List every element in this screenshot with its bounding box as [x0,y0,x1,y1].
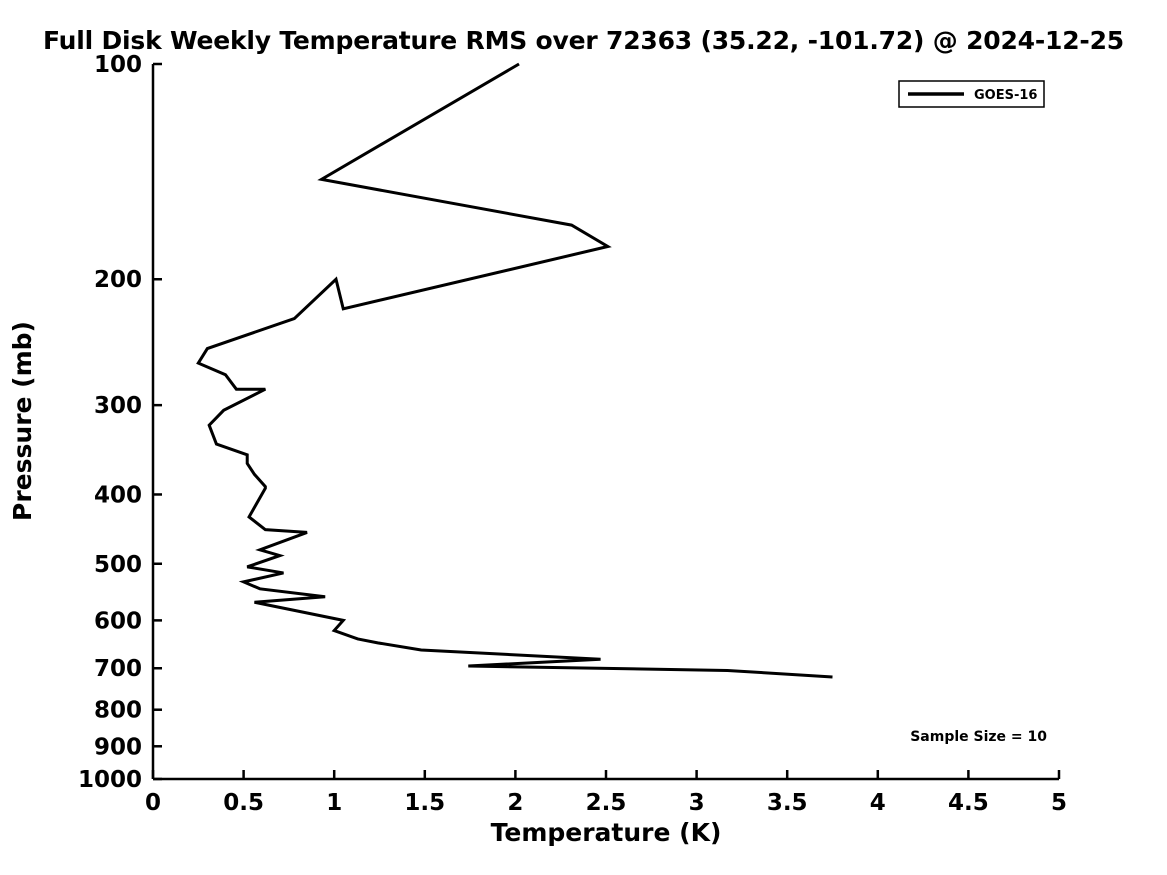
x-tick-label: 3 [689,790,705,816]
y-tick-label: 700 [94,656,142,682]
y-tick-label: 100 [94,52,142,78]
x-axis-label: Temperature (K) [491,818,722,847]
y-axis-label: Pressure (mb) [8,321,37,521]
x-tick-label: 5 [1051,790,1067,816]
x-tick-label: 4.5 [948,790,989,816]
y-tick-label: 500 [94,552,142,578]
x-tick-label: 2 [507,790,523,816]
x-axis-tick-labels: 00.511.522.533.544.55 [145,790,1067,816]
x-tick-label: 0 [145,790,161,816]
x-tick-label: 1 [326,790,342,816]
y-tick-label: 600 [94,608,142,634]
y-axis-tick-labels: 1002003004005006007008009001000 [78,52,142,793]
legend-label-goes-16: GOES-16 [974,88,1037,103]
x-tick-label: 2.5 [586,790,627,816]
legend[interactable]: GOES-16 [899,81,1044,107]
y-tick-label: 1000 [78,767,142,793]
y-tick-label: 200 [94,267,142,293]
x-tick-label: 4 [870,790,886,816]
x-tick-label: 3.5 [767,790,808,816]
y-tick-label: 400 [94,482,142,508]
chart-figure: Full Disk Weekly Temperature RMS over 72… [0,0,1167,875]
y-tick-label: 900 [94,734,142,760]
x-tick-label: 1.5 [404,790,445,816]
y-tick-label: 300 [94,393,142,419]
x-tick-label: 0.5 [223,790,264,816]
y-tick-label: 800 [94,698,142,724]
data-line-goes-16 [198,64,832,677]
y-axis-ticks [153,64,162,779]
plot-area: 00.511.522.533.544.55 100200300400500600… [0,0,1167,875]
x-axis-ticks [153,770,1059,779]
sample-size-annotation: Sample Size = 10 [910,729,1047,745]
